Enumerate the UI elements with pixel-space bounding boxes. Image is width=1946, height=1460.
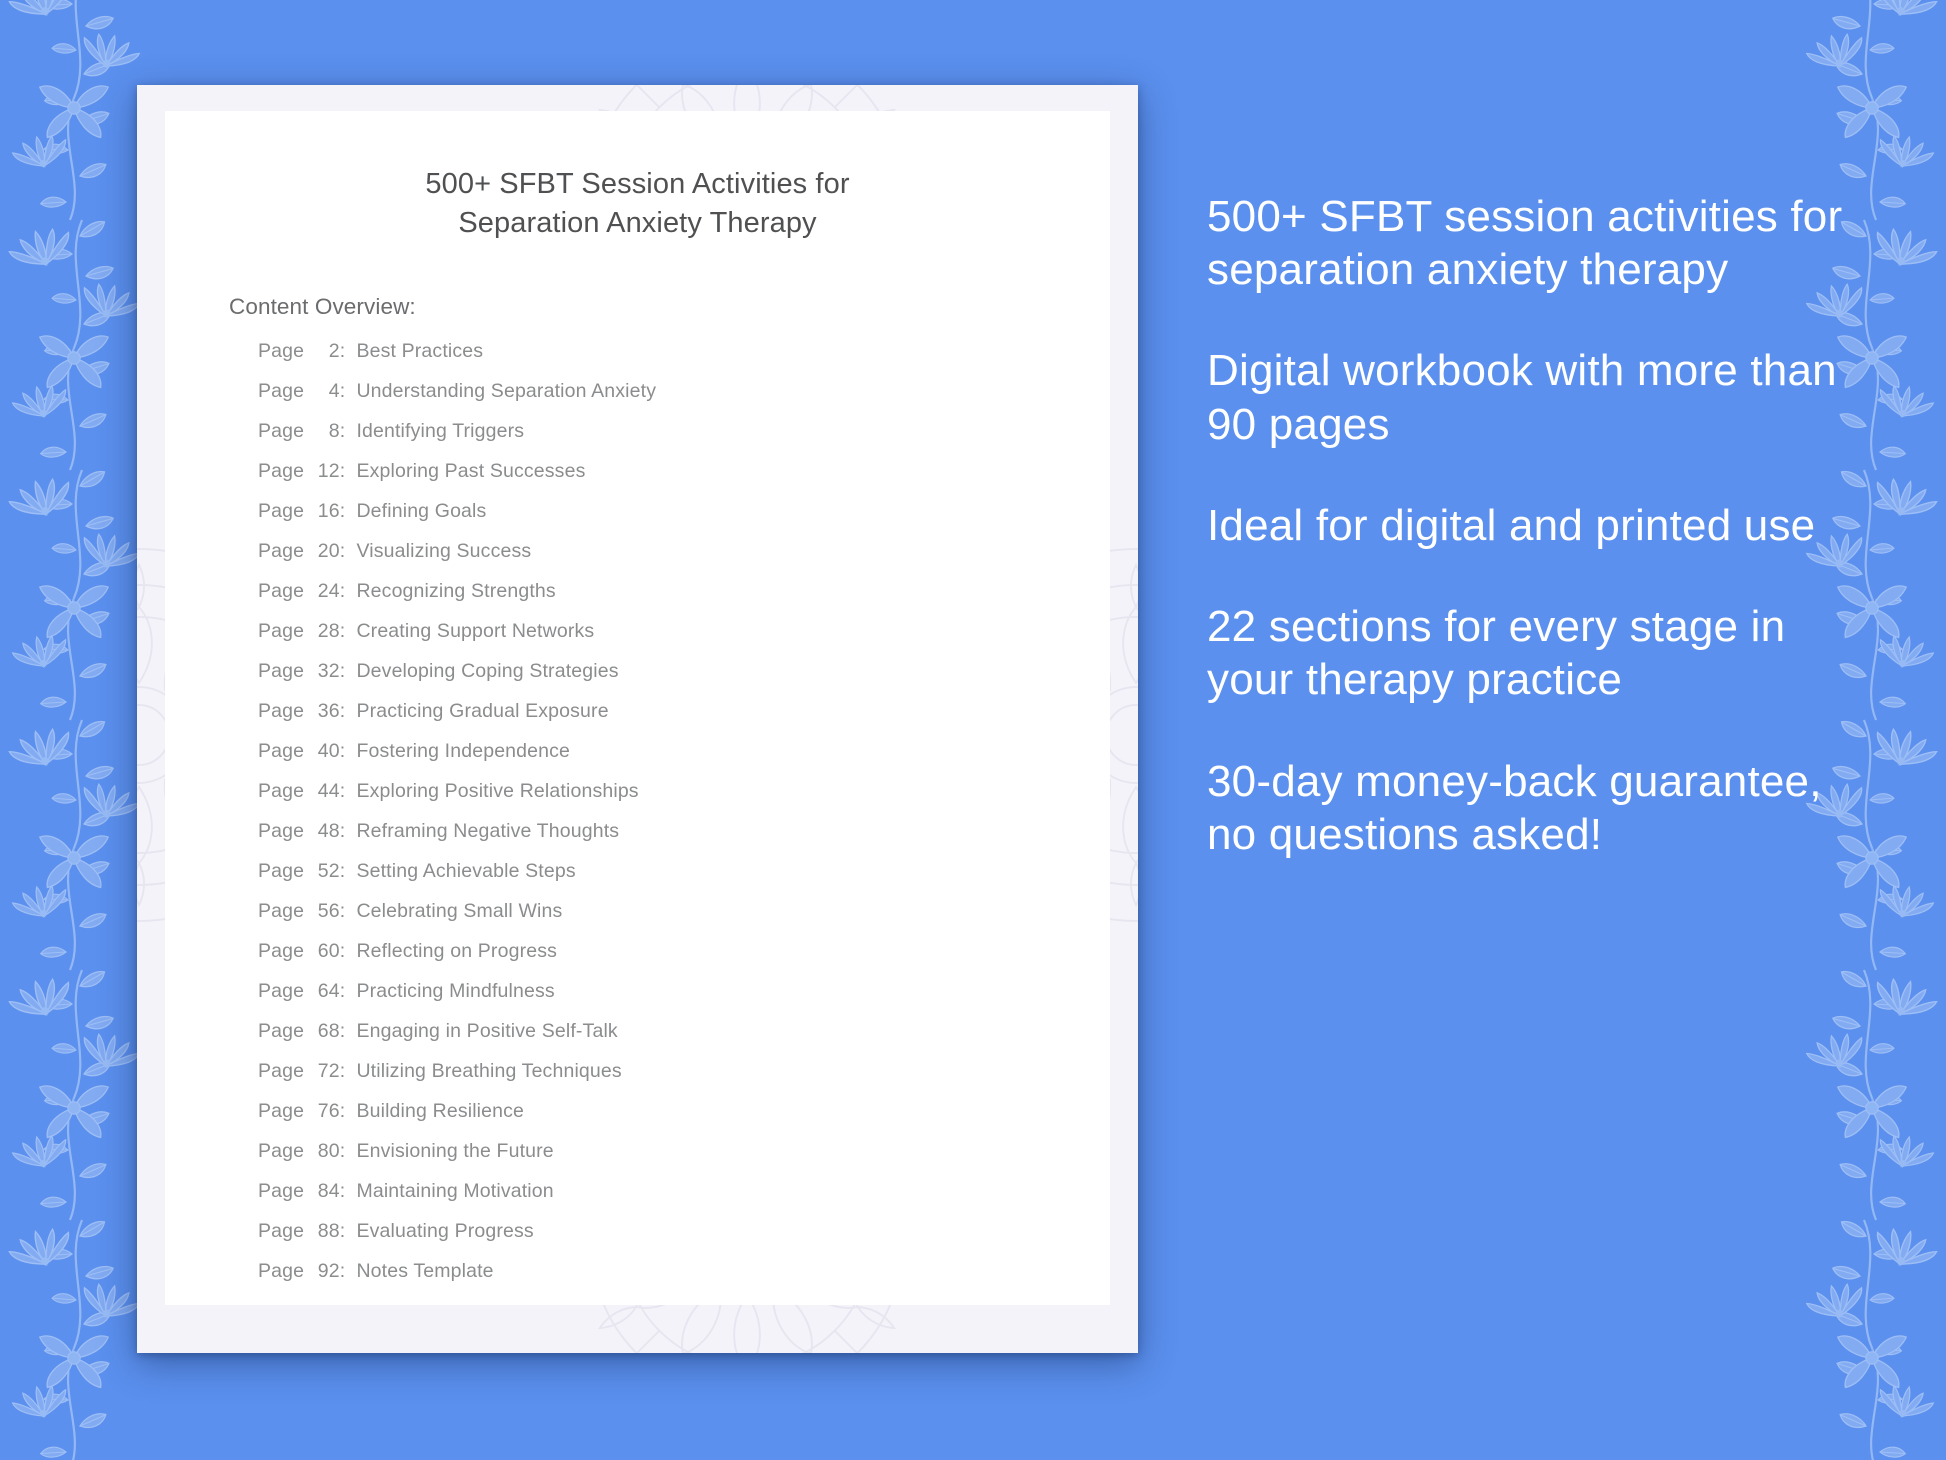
toc-entry-title: Setting Achievable Steps: [356, 862, 575, 882]
document-page: 500+ SFBT Session Activities for Separat…: [165, 111, 1110, 1305]
toc-entry-page-word: Page: [258, 422, 310, 442]
page-title-line-2: Separation Anxiety Therapy: [458, 207, 816, 239]
toc-entry[interactable]: Page 84: Maintaining Motivation: [258, 1182, 1110, 1222]
toc-entry[interactable]: Page 12: Exploring Past Successes: [258, 462, 1110, 502]
toc-entry-page-word: Page: [258, 662, 310, 682]
toc-entry-colon: :: [340, 662, 357, 682]
toc-entry-page-word: Page: [258, 622, 310, 642]
marketing-bullet: Digital workbook with more than 90 pages: [1207, 344, 1847, 450]
toc-entry[interactable]: Page 68: Engaging in Positive Self-Talk: [258, 1022, 1110, 1062]
toc-entry-page-word: Page: [258, 1182, 310, 1202]
toc-entry-page-word: Page: [258, 382, 310, 402]
toc-entry-title: Notes Template: [356, 1262, 493, 1282]
toc-entry-page-word: Page: [258, 742, 310, 762]
page-title: 500+ SFBT Session Activities for Separat…: [165, 165, 1110, 242]
toc-entry-colon: :: [340, 1022, 357, 1042]
toc-entry-title: Identifying Triggers: [356, 422, 524, 442]
toc-entry-title: Exploring Positive Relationships: [356, 782, 638, 802]
toc-entry[interactable]: Page 4: Understanding Separation Anxiety: [258, 382, 1110, 422]
toc-entry-title: Fostering Independence: [356, 742, 570, 762]
toc-entry[interactable]: Page 28: Creating Support Networks: [258, 622, 1110, 662]
toc-entry-page-word: Page: [258, 782, 310, 802]
toc-entry-page-number: 68: [310, 1022, 340, 1042]
toc-entry[interactable]: Page 76: Building Resilience: [258, 1102, 1110, 1142]
toc-entry-page-word: Page: [258, 582, 310, 602]
marketing-copy: 500+ SFBT session activities for separat…: [1207, 190, 1847, 861]
toc-entry-colon: :: [340, 1262, 357, 1282]
toc-entry-page-number: 76: [310, 1102, 340, 1122]
toc-entry-page-number: 48: [310, 822, 340, 842]
toc-entry-page-number: 4: [310, 382, 340, 402]
toc-entry-title: Recognizing Strengths: [356, 582, 555, 602]
toc-entry-page-number: 40: [310, 742, 340, 762]
toc-entry[interactable]: Page 72: Utilizing Breathing Techniques: [258, 1062, 1110, 1102]
toc-entry[interactable]: Page 20: Visualizing Success: [258, 542, 1110, 582]
toc-entry[interactable]: Page 56: Celebrating Small Wins: [258, 902, 1110, 942]
toc-entry-page-word: Page: [258, 1062, 310, 1082]
marketing-bullet: Ideal for digital and printed use: [1207, 499, 1847, 552]
toc-entry-page-word: Page: [258, 1142, 310, 1162]
toc-entry[interactable]: Page 80: Envisioning the Future: [258, 1142, 1110, 1182]
toc-entry-page-word: Page: [258, 982, 310, 1002]
toc-entry-colon: :: [340, 422, 357, 442]
toc-entry-colon: :: [340, 1222, 357, 1242]
toc-entry-title: Practicing Gradual Exposure: [356, 702, 608, 722]
toc-entry-title: Utilizing Breathing Techniques: [356, 1062, 621, 1082]
toc-entry-page-number: 2: [310, 342, 340, 362]
toc-entry-title: Understanding Separation Anxiety: [356, 382, 656, 402]
toc-entry-colon: :: [340, 902, 357, 922]
toc-entry-colon: :: [340, 502, 357, 522]
toc-entry-page-number: 8: [310, 422, 340, 442]
toc-entry-title: Evaluating Progress: [356, 1222, 533, 1242]
toc-entry-title: Defining Goals: [356, 502, 486, 522]
toc-entry-title: Practicing Mindfulness: [356, 982, 554, 1002]
toc-entry-title: Reframing Negative Thoughts: [356, 822, 619, 842]
toc-entry-title: Developing Coping Strategies: [356, 662, 618, 682]
toc-entry-colon: :: [340, 1182, 357, 1202]
toc-entry[interactable]: Page 36: Practicing Gradual Exposure: [258, 702, 1110, 742]
toc-entry-page-word: Page: [258, 902, 310, 922]
toc-entry[interactable]: Page 40: Fostering Independence: [258, 742, 1110, 782]
toc-entry-page-word: Page: [258, 1102, 310, 1122]
toc-entry-page-word: Page: [258, 542, 310, 562]
marketing-bullet: 500+ SFBT session activities for separat…: [1207, 190, 1847, 296]
toc-entry-colon: :: [340, 382, 357, 402]
toc-entry-colon: :: [340, 622, 357, 642]
toc-entry-page-word: Page: [258, 1022, 310, 1042]
toc-entry-title: Exploring Past Successes: [356, 462, 585, 482]
toc-entry-colon: :: [340, 862, 357, 882]
toc-entry-page-number: 80: [310, 1142, 340, 1162]
toc-entry-title: Engaging in Positive Self-Talk: [356, 1022, 617, 1042]
toc-entry-colon: :: [340, 1102, 357, 1122]
toc-entry-page-word: Page: [258, 942, 310, 962]
toc-entry-title: Maintaining Motivation: [356, 1182, 553, 1202]
toc-entry-page-word: Page: [258, 342, 310, 362]
toc-entry-page-number: 88: [310, 1222, 340, 1242]
marketing-bullet: 22 sections for every stage in your ther…: [1207, 600, 1847, 706]
toc-entry[interactable]: Page 64: Practicing Mindfulness: [258, 982, 1110, 1022]
toc-entry-title: Creating Support Networks: [356, 622, 594, 642]
content-overview-heading: Content Overview:: [229, 294, 1110, 320]
toc-entry-page-word: Page: [258, 1222, 310, 1242]
toc-entry-page-number: 16: [310, 502, 340, 522]
toc-entry[interactable]: Page 48: Reframing Negative Thoughts: [258, 822, 1110, 862]
toc-entry-colon: :: [340, 342, 357, 362]
toc-entry-page-number: 64: [310, 982, 340, 1002]
toc-entry-title: Visualizing Success: [356, 542, 531, 562]
toc-entry-page-number: 44: [310, 782, 340, 802]
marketing-bullet: 30-day money-back guarantee, no question…: [1207, 755, 1847, 861]
toc-entry-colon: :: [340, 742, 357, 762]
toc-entry-page-number: 36: [310, 702, 340, 722]
toc-entry-page-number: 72: [310, 1062, 340, 1082]
toc-entry-page-number: 56: [310, 902, 340, 922]
toc-entry-colon: :: [340, 1142, 357, 1162]
toc-entry-page-number: 28: [310, 622, 340, 642]
document-preview[interactable]: 500+ SFBT Session Activities for Separat…: [137, 85, 1138, 1353]
toc-entry-title: Best Practices: [356, 342, 483, 362]
toc-entry-colon: :: [340, 782, 357, 802]
toc-entry-title: Reflecting on Progress: [356, 942, 557, 962]
toc-entry-page-number: 92: [310, 1262, 340, 1282]
toc-entry-page-word: Page: [258, 702, 310, 722]
toc-entry[interactable]: Page 52: Setting Achievable Steps: [258, 862, 1110, 902]
toc-entry-page-word: Page: [258, 862, 310, 882]
toc-entry-colon: :: [340, 982, 357, 1002]
toc-entry[interactable]: Page 32: Developing Coping Strategies: [258, 662, 1110, 702]
toc-entry-page-word: Page: [258, 502, 310, 522]
toc-entry[interactable]: Page 16: Defining Goals: [258, 502, 1110, 542]
toc-entry-colon: :: [340, 1062, 357, 1082]
toc-entry-colon: :: [340, 822, 357, 842]
toc-entry-colon: :: [340, 542, 357, 562]
toc-entry-page-number: 60: [310, 942, 340, 962]
toc-entry-page-number: 32: [310, 662, 340, 682]
toc-entry-colon: :: [340, 942, 357, 962]
toc-entry-title: Building Resilience: [356, 1102, 524, 1122]
table-of-contents: Page 2: Best PracticesPage 4: Understand…: [258, 342, 1110, 1302]
toc-entry-page-number: 20: [310, 542, 340, 562]
toc-entry[interactable]: Page 44: Exploring Positive Relationship…: [258, 782, 1110, 822]
toc-entry-colon: :: [340, 462, 357, 482]
toc-entry-page-number: 52: [310, 862, 340, 882]
toc-entry[interactable]: Page 92: Notes Template: [258, 1262, 1110, 1302]
toc-entry-page-word: Page: [258, 822, 310, 842]
toc-entry-page-number: 12: [310, 462, 340, 482]
toc-entry[interactable]: Page 88: Evaluating Progress: [258, 1222, 1110, 1262]
toc-entry-page-word: Page: [258, 462, 310, 482]
toc-entry-page-word: Page: [258, 1262, 310, 1282]
page-title-line-1: 500+ SFBT Session Activities for: [425, 168, 849, 200]
toc-entry[interactable]: Page 2: Best Practices: [258, 342, 1110, 382]
toc-entry-page-number: 24: [310, 582, 340, 602]
toc-entry-colon: :: [340, 702, 357, 722]
toc-entry-title: Envisioning the Future: [356, 1142, 553, 1162]
document-mat: 500+ SFBT Session Activities for Separat…: [137, 85, 1138, 1353]
toc-entry-title: Celebrating Small Wins: [356, 902, 562, 922]
toc-entry[interactable]: Page 60: Reflecting on Progress: [258, 942, 1110, 982]
toc-entry-page-number: 84: [310, 1182, 340, 1202]
toc-entry[interactable]: Page 8: Identifying Triggers: [258, 422, 1110, 462]
toc-entry-colon: :: [340, 582, 357, 602]
toc-entry[interactable]: Page 24: Recognizing Strengths: [258, 582, 1110, 622]
